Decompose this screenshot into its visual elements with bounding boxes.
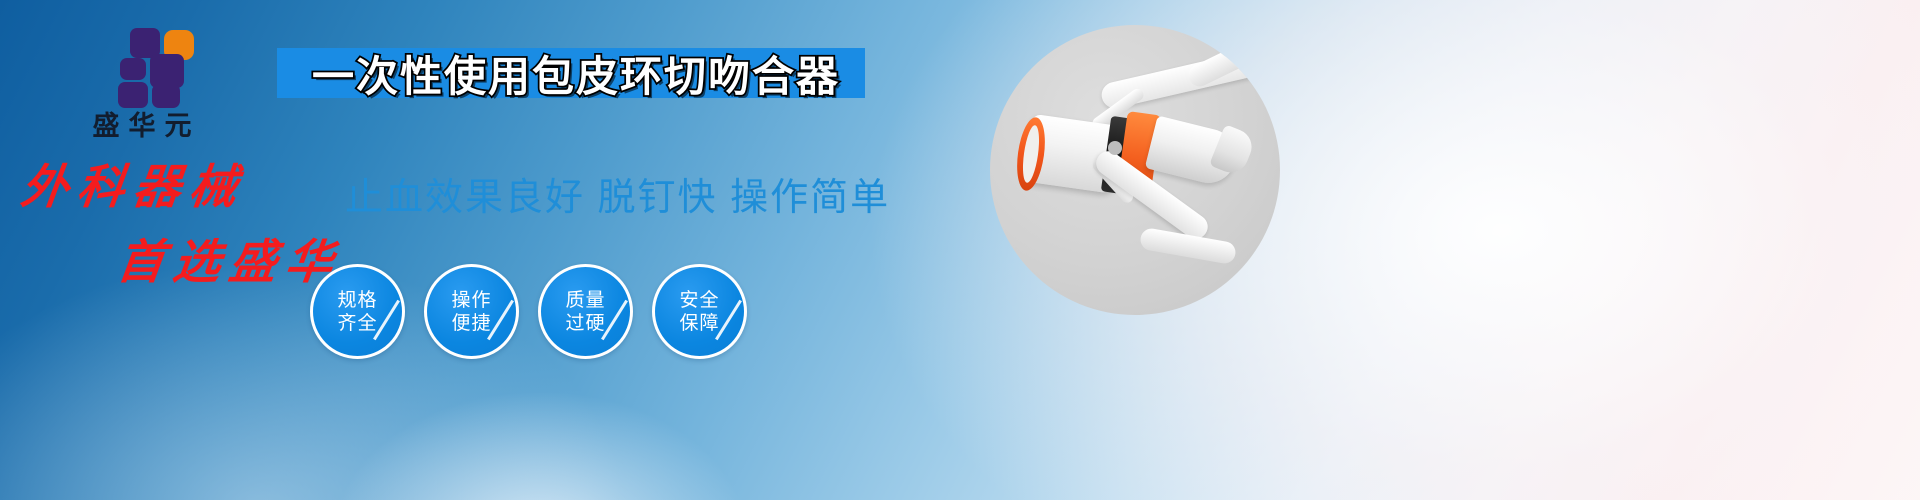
page-title: 一次性使用包皮环切吻合器 — [291, 46, 861, 100]
logo-mark-icon — [106, 28, 178, 96]
logo-square-bottom-left — [118, 82, 148, 108]
badge-label-line1: 规格 — [337, 289, 377, 312]
badge-label-line1: 安全 — [679, 289, 719, 312]
background-glow-bottom — [330, 390, 750, 500]
calligraphy-line-1: 外科器械 — [18, 148, 356, 217]
badge-label-line1: 操作 — [451, 289, 491, 312]
logo-square-bottom-right — [152, 84, 180, 108]
feature-badge-safety[interactable]: 安全 保障 — [652, 264, 747, 359]
feature-badge-quality[interactable]: 质量 过硬 — [538, 264, 633, 359]
promo-banner: 盛华元 外科器械 首选盛华 一次性使用包皮环切吻合器 止血效果良好 脱钉快 操作… — [0, 0, 1920, 500]
badge-label-line1: 质量 — [565, 289, 605, 312]
logo-square-mid-left — [120, 58, 146, 80]
feature-badge-list: 规格 齐全 操作 便捷 质量 过硬 安全 保障 — [310, 264, 747, 359]
badge-label-line2: 过硬 — [565, 312, 605, 335]
product-image — [990, 25, 1280, 315]
logo-square-center — [150, 54, 184, 88]
brand-name: 盛华元 — [62, 104, 222, 143]
feature-badge-specification[interactable]: 规格 齐全 — [310, 264, 405, 359]
brand-logo[interactable]: 盛华元 — [62, 28, 222, 143]
badge-label-line2: 保障 — [679, 312, 719, 335]
product-pivot — [1108, 141, 1122, 155]
badge-label-line2: 便捷 — [451, 312, 491, 335]
badge-label-line2: 齐全 — [337, 312, 377, 335]
calligraphy-slogan: 外科器械 首选盛华 — [22, 148, 352, 263]
feature-badge-operation[interactable]: 操作 便捷 — [424, 264, 519, 359]
subtitle: 止血效果良好 脱钉快 操作简单 — [345, 166, 890, 221]
